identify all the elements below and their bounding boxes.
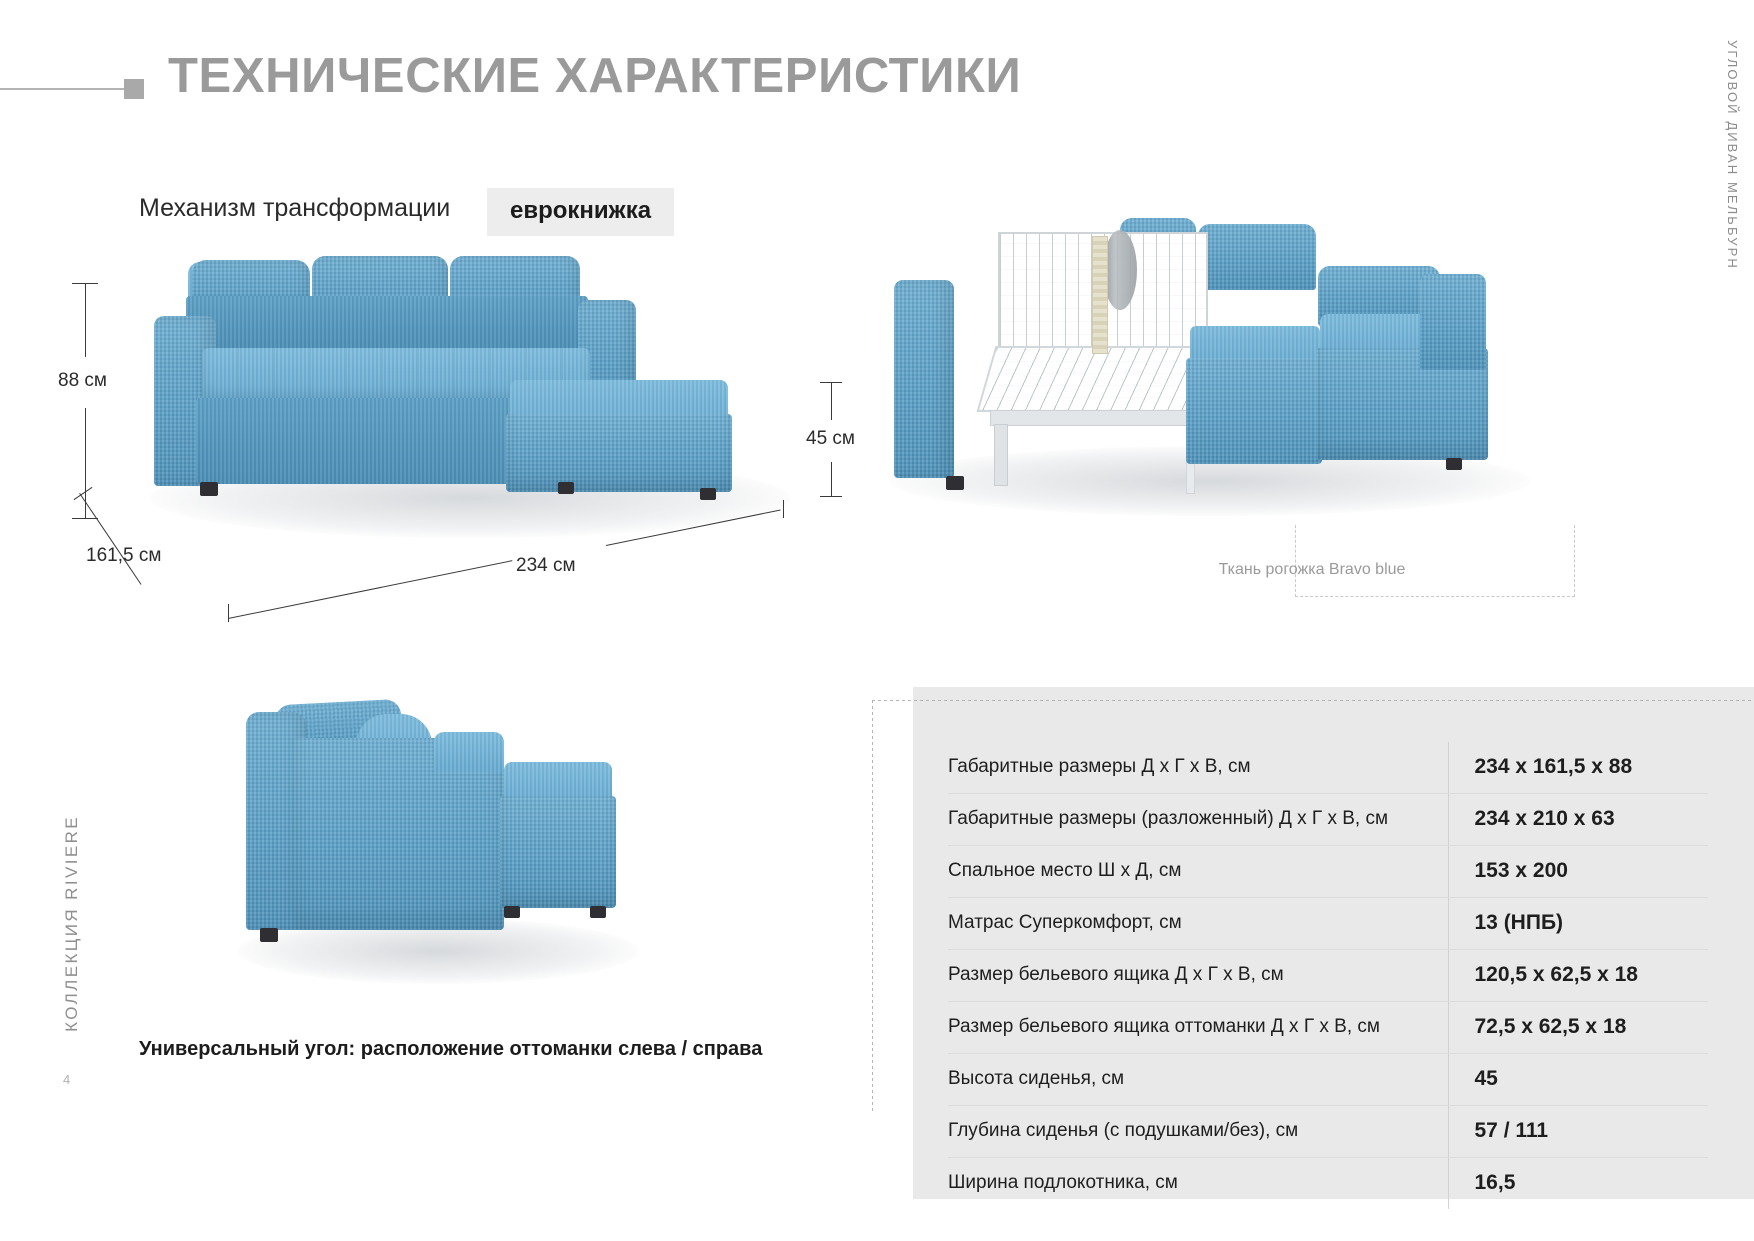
dim-line-seat-lower [831,462,832,496]
spec-key: Ширина подлокотника, см [948,1158,1448,1210]
spec-key: Габаритные размеры Д x Г x В, см [948,742,1448,794]
spec-value: 16,5 [1448,1158,1708,1210]
table-row: Матрас Суперкомфорт, см 13 (НПБ) [948,898,1708,950]
table-row: Габаритные размеры (разложенный) Д x Г x… [948,794,1708,846]
dim-line-height-upper [85,283,86,357]
dim-label-seat-height: 45 см [806,428,855,450]
catalog-page: ТЕХНИЧЕСКИЕ ХАРАКТЕРИСТИКИ УГЛОВОЙ ДИВАН… [0,0,1754,1241]
sofa-photo-folded [140,240,800,530]
spec-value: 13 (НПБ) [1448,898,1708,950]
spec-key: Спальное место Ш x Д, см [948,846,1448,898]
dim-line-depth [79,493,141,585]
spec-dotted-guide-vertical [872,700,873,1113]
dim-tick-width-start [228,604,229,622]
dim-tick-seat-bottom [820,496,842,497]
spec-value: 234 x 161,5 x 88 [1448,742,1708,794]
side-label-collection: КОЛЛЕКЦИЯ RIVIERE [62,815,82,1032]
dim-line-width-left [228,560,512,619]
square-bullet-icon [124,79,144,99]
sofa-photo-sideview [238,686,658,976]
table-row: Размер бельевого ящика оттоманки Д x Г x… [948,1002,1708,1054]
dim-label-width: 234 см [516,555,576,577]
dim-label-height: 88 см [58,370,107,392]
spec-key: Матрас Суперкомфорт, см [948,898,1448,950]
spec-value: 234 x 210 x 63 [1448,794,1708,846]
header-rule [0,88,124,90]
dim-line-seat-upper [831,382,832,420]
spec-value: 57 / 111 [1448,1106,1708,1158]
mechanism-label: Механизм трансформации [139,194,450,223]
spec-value: 72,5 x 62,5 x 18 [1448,1002,1708,1054]
fabric-caption: Ткань рогожка Bravo blue [1219,561,1406,579]
table-row: Глубина сиденья (с подушками/без), см 57… [948,1106,1708,1158]
table-row: Высота сиденья, см 45 [948,1054,1708,1106]
spec-key: Размер бельевого ящика Д x Г x В, см [948,950,1448,1002]
sofa-photo-unfolded [890,218,1540,508]
mechanism-value-badge: еврокнижка [487,188,674,236]
page-number: 4 [63,1072,70,1087]
bottom-caption: Универсальный угол: расположение оттоман… [139,1038,762,1061]
dim-tick-height-bottom [72,518,98,519]
table-row: Размер бельевого ящика Д x Г x В, см 120… [948,950,1708,1002]
spec-key: Габаритные размеры (разложенный) Д x Г x… [948,794,1448,846]
table-row: Спальное место Ш x Д, см 153 x 200 [948,846,1708,898]
spec-key: Глубина сиденья (с подушками/без), см [948,1106,1448,1158]
spec-value: 153 x 200 [1448,846,1708,898]
table-row: Ширина подлокотника, см 16,5 [948,1158,1708,1210]
page-title: ТЕХНИЧЕСКИЕ ХАРАКТЕРИСТИКИ [168,48,1021,104]
side-label-product: УГЛОВОЙ ДИВАН МЕЛЬБУРН [1725,40,1740,270]
spec-value: 45 [1448,1054,1708,1106]
dim-label-depth: 161,5 см [86,545,161,567]
spec-key: Высота сиденья, см [948,1054,1448,1106]
table-row: Габаритные размеры Д x Г x В, см 234 x 1… [948,742,1708,794]
specifications-table: Габаритные размеры Д x Г x В, см 234 x 1… [948,742,1708,1209]
spec-value: 120,5 x 62,5 x 18 [1448,950,1708,1002]
spec-dotted-guide-horizontal [872,700,1754,701]
spec-key: Размер бельевого ящика оттоманки Д x Г x… [948,1002,1448,1054]
dim-tick-width-end [783,500,784,518]
